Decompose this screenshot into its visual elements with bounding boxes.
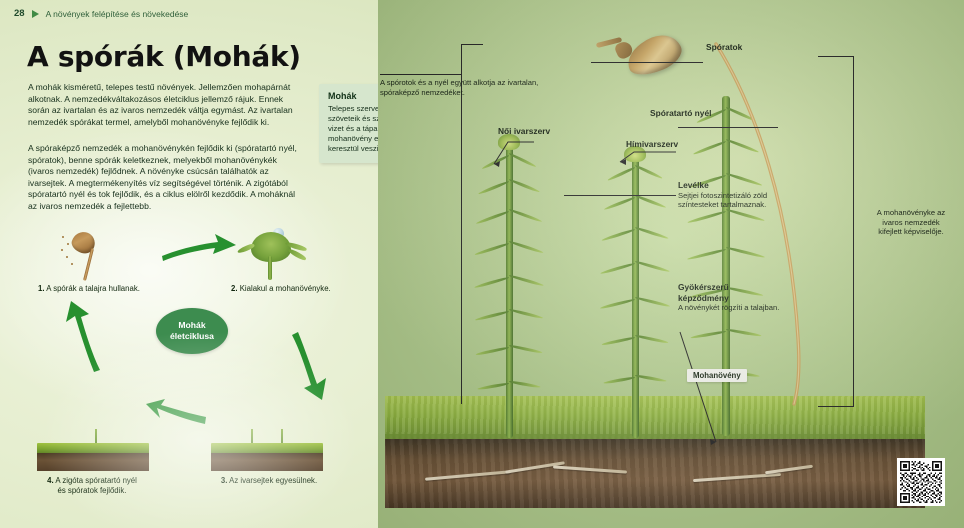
label-mohanoveny-tag: Mohanövény (687, 369, 747, 382)
chapter-title-left: A növények felépítése és növekedése (46, 9, 189, 19)
leader-line-sporatok (591, 62, 703, 63)
spore-capsule (622, 29, 687, 82)
leader-line-bracket-main (461, 74, 462, 404)
moss-leaflet (601, 228, 635, 242)
lifecycle-step-number-1: 1. (38, 284, 45, 293)
spore-dot (62, 236, 64, 238)
cycle-arrow-4-to-1 (62, 300, 106, 374)
lifecycle-step-text-4-line1: A zigóta spóratartó nyél (55, 476, 136, 485)
moss-leaflet (635, 226, 669, 240)
moss-leaflet (509, 380, 541, 389)
moss-anatomy-illustration: A spórotok és a nyél együtt alkotja az i… (378, 0, 964, 528)
running-head-left: 28 A növények felépítése és növekedése (14, 8, 188, 19)
moss-leaflet (601, 336, 635, 346)
leader-line-sporangium-top (461, 44, 483, 45)
cycle-arrow-1-to-2 (160, 232, 238, 266)
gametophyte-stem (268, 256, 272, 280)
pointer-female-organ (490, 140, 536, 170)
label-sporatarto-nyel-text: Spóratartó nyél (650, 108, 711, 119)
moss-leaflet (477, 382, 509, 391)
leader-line-levelke (564, 195, 676, 196)
body-paragraph-2: A spóraképző nemzedék a mohanövénykén fe… (28, 143, 302, 213)
pointer-rhizoid (678, 330, 722, 450)
lifecycle-step-number-4: 4. (47, 476, 54, 485)
spore-dot (71, 263, 73, 265)
moss-leaflet (600, 262, 635, 275)
label-levelke-title: Levélke (678, 180, 790, 191)
label-gyokerszeru-kepzodmeny: Gyökérszerű képződmény A növénykét rögzí… (678, 282, 782, 313)
lifecycle-step-text-2: Kialakul a mohanövényke. (240, 284, 331, 293)
moss-leaflet (476, 210, 510, 225)
lifecycle-badge-line2: életciklusa (170, 331, 214, 342)
label-gyokerszeru-desc: A növénykét rögzíti a talajban. (678, 303, 782, 313)
soil-slab-step-3 (211, 443, 323, 471)
page-number-left: 28 (14, 8, 25, 19)
qr-code-icon[interactable] (897, 458, 945, 506)
label-right-note-text: A mohanövényke az ivaros nemzedék kifejl… (872, 208, 950, 237)
leader-line-right-bracket (853, 56, 854, 406)
moss-leaflet (635, 374, 667, 383)
moss-leaflet (509, 240, 544, 254)
moss-leaflet (603, 376, 635, 385)
lifecycle-step-text-4-line2: és spóratok fejlődik. (58, 486, 127, 495)
moss-leaflet (600, 298, 636, 310)
label-sporatok: Spóratok (706, 42, 742, 53)
lifecycle-caption-3: 3. Az ivarsejtek egyesülnek. (198, 476, 340, 486)
leader-line-seta (678, 127, 778, 128)
qr-code-matrix (900, 461, 942, 503)
label-sporatok-text: Spóratok (706, 42, 742, 53)
moss-leaflet (509, 274, 544, 287)
moss-leaflet (474, 276, 509, 289)
cycle-arrow-3-to-4 (145, 398, 207, 430)
moss-leaflet (635, 260, 670, 273)
moss-plant-male (600, 146, 670, 438)
lifecycle-badge-line1: Mohák (178, 320, 205, 331)
soil-layer (211, 453, 323, 471)
moss-leaflet (475, 346, 509, 356)
lifecycle-step-text-3: Az ivarsejtek egyesülnek. (229, 476, 317, 485)
leader-line-sporangium-note (380, 74, 462, 75)
label-himivarszerv: Hímivarszerv (626, 139, 678, 150)
moss-leaflet (635, 334, 669, 344)
page-title: A spórák (Mohák) (27, 40, 301, 73)
moss-leaflet (509, 344, 543, 354)
moss-stem (632, 146, 639, 438)
body-paragraph-1: A mohák kisméretű, telepes testű növénye… (28, 82, 302, 128)
spore-dot (67, 243, 69, 245)
lifecycle-step-number-2: 2. (231, 284, 238, 293)
label-gyokerszeru-title-line2: képződmény (678, 293, 782, 304)
textbook-spread: 28 A növények felépítése és növekedése A… (0, 0, 964, 528)
moss-leaflet (478, 180, 510, 195)
cycle-arrow-2-to-3 (290, 330, 334, 402)
soil-layer (37, 453, 149, 471)
spore-capsule-shape (69, 229, 97, 256)
lifecycle-caption-1: 1. A spórák a talajra hullanak. (38, 284, 188, 294)
label-gyokerszeru-title-line1: Gyökérszerű (678, 282, 782, 293)
spore-dot (66, 256, 68, 258)
lifecycle-badge: Mohák életciklusa (156, 308, 228, 354)
moss-leaflet (474, 242, 509, 256)
sporangium-illustration (60, 232, 114, 282)
lifecycle-step-number-3: 3. (221, 476, 228, 485)
label-sporatarto-nyel: Spóratartó nyél (650, 108, 711, 119)
soil-slab-step-4 (37, 443, 149, 471)
moss-leaflet (508, 178, 540, 193)
label-levelke: Levélke Sejtjei fotoszintetizáló zöld sz… (678, 180, 790, 210)
moss-plant-female (474, 138, 544, 438)
moss-leaflet (635, 296, 671, 308)
leader-line-right-top (818, 56, 854, 57)
leader-line-right-bottom (818, 406, 854, 407)
moss-leaflet (475, 310, 510, 321)
moss-leaflet (604, 196, 636, 211)
pointer-male-organ (616, 148, 678, 172)
label-noi-ivarszerv: Női ivarszerv (498, 126, 550, 137)
lifecycle-step-text-1: A spórák a talajra hullanak. (46, 284, 140, 293)
leader-line-sporangium-vert (461, 44, 462, 75)
label-sporangium-note-text: A spórotok és a nyél együtt alkotja az i… (380, 78, 550, 97)
label-right-note: A mohanövényke az ivaros nemzedék kifejl… (872, 208, 950, 237)
moss-leaflet (509, 308, 544, 319)
label-levelke-desc: Sejtjei fotoszintetizáló zöld színtestek… (678, 191, 790, 210)
gametophyte-illustration (243, 228, 307, 284)
lifecycle-caption-2: 2. Kialakul a mohanövényke. (231, 284, 391, 294)
label-himivarszerv-text: Hímivarszerv (626, 139, 678, 150)
moss-leaflet (508, 208, 542, 223)
label-noi-ivarszerv-text: Női ivarszerv (498, 126, 550, 137)
triangle-right-icon (32, 10, 39, 18)
label-sporangium-note: A spórotok és a nyél együtt alkotja az i… (380, 78, 550, 97)
moss-leaflet (634, 194, 666, 209)
spore-dot (61, 249, 63, 251)
lifecycle-caption-4: 4. A zigóta spóratartó nyél és spóratok … (22, 476, 162, 496)
